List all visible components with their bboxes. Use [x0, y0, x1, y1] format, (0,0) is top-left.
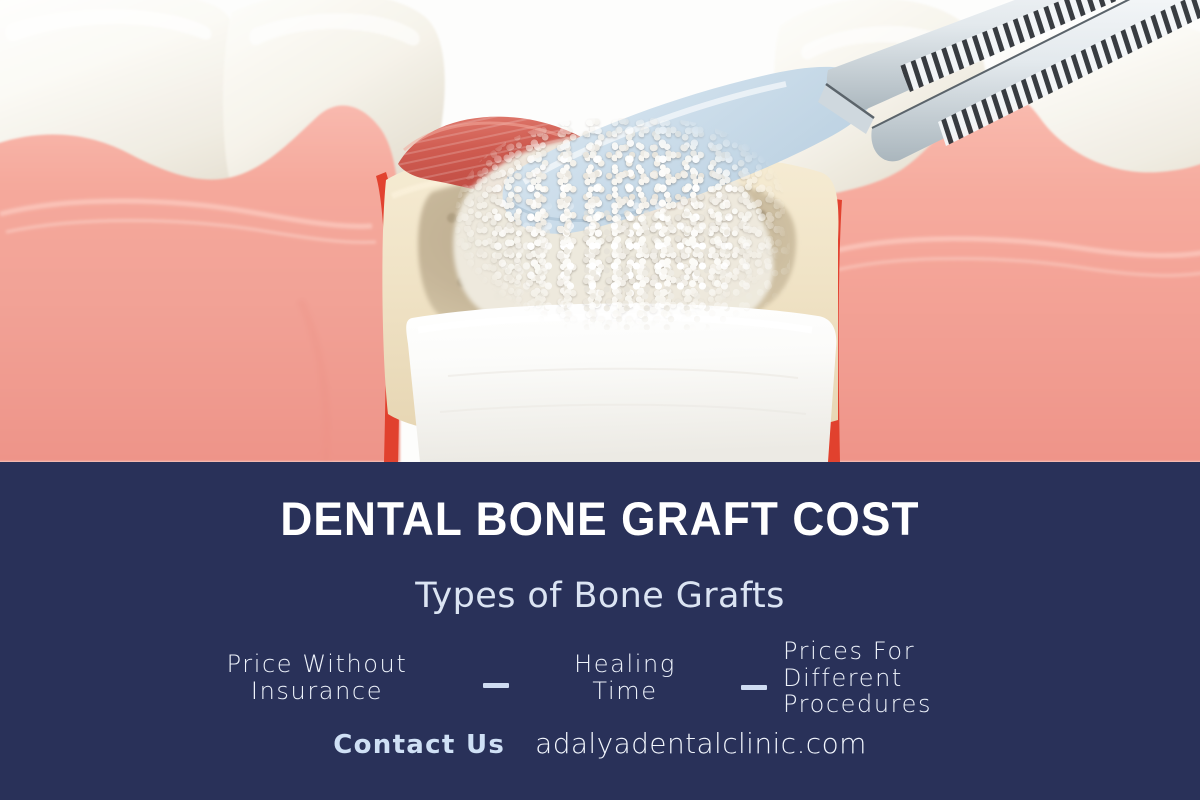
- contact-website-url[interactable]: adalyadentalclinic.com: [535, 727, 867, 760]
- page-title: DENTAL BONE GRAFT COST: [36, 491, 1164, 546]
- feature-line: Procedures: [783, 691, 1033, 718]
- separator-dash-icon: [741, 685, 767, 690]
- feature-line: Healing: [525, 651, 725, 678]
- page-subtitle: Types of Bone Grafts: [0, 576, 1200, 616]
- feature-healing-time: Healing Time: [525, 651, 725, 705]
- feature-line: Price Without: [167, 651, 467, 678]
- info-panel: DENTAL BONE GRAFT COST Types of Bone Gra…: [0, 462, 1200, 800]
- contact-row: Contact Us adalyadentalclinic.com: [0, 727, 1200, 760]
- feature-line: Different: [783, 665, 1033, 692]
- bone-graft-granules-lower: [500, 200, 790, 330]
- feature-prices-for-different-procedures: Prices For Different Procedures: [783, 638, 1033, 719]
- poster-root: DENTAL BONE GRAFT COST Types of Bone Gra…: [0, 0, 1200, 800]
- feature-line: Insurance: [167, 678, 467, 705]
- contact-label: Contact Us: [333, 730, 505, 760]
- separator-dash-icon: [483, 683, 509, 688]
- feature-price-without-insurance: Price Without Insurance: [167, 651, 467, 705]
- feature-line: Time: [525, 678, 725, 705]
- dental-bone-graft-illustration: [0, 0, 1200, 462]
- feature-row: Price Without Insurance Healing Time Pri…: [0, 634, 1200, 722]
- feature-line: Prices For: [783, 638, 1033, 665]
